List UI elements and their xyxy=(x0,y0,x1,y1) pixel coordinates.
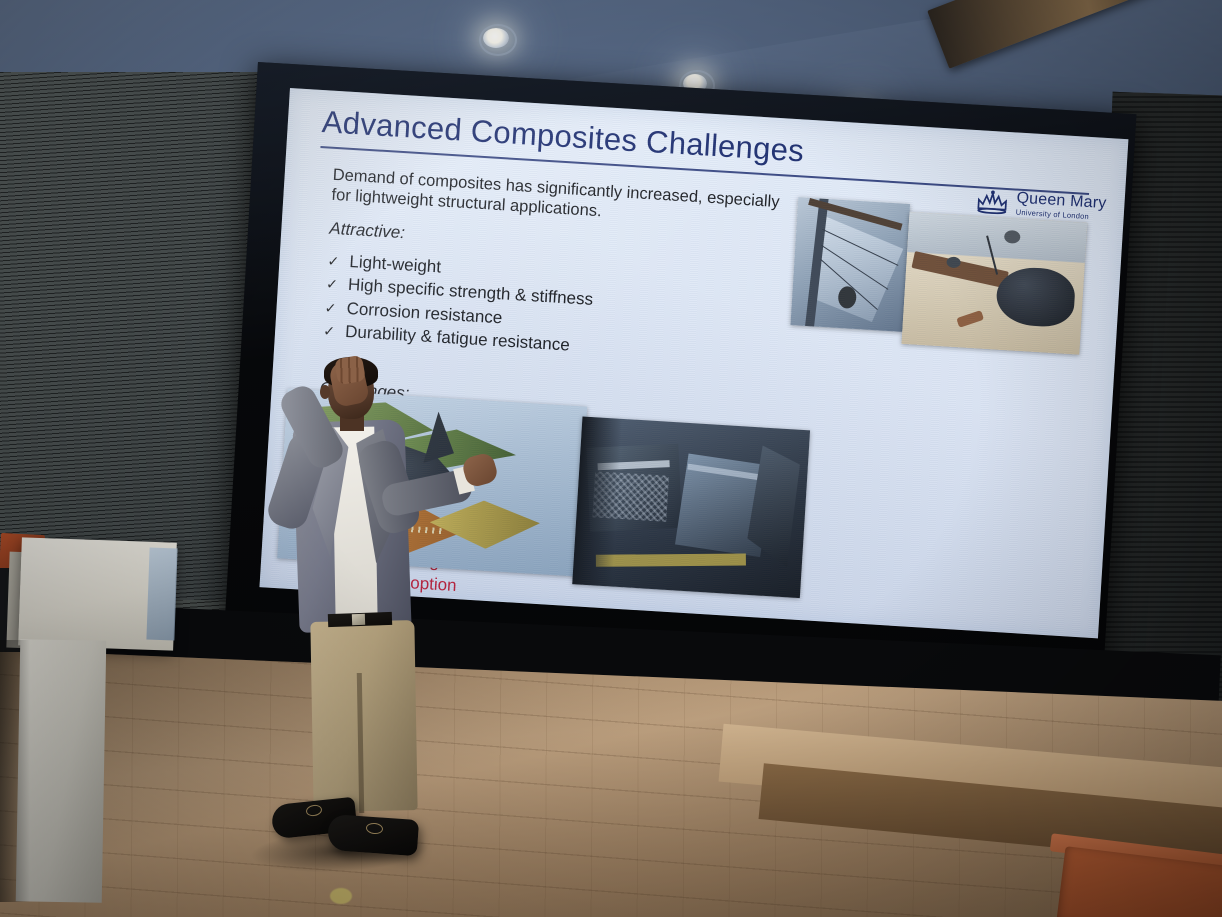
trousers xyxy=(310,620,417,812)
crushed-carbon-fibre-photo xyxy=(572,416,810,598)
crown-icon xyxy=(975,189,1010,215)
logo-text: Queen Mary University of London xyxy=(1015,191,1106,222)
yellow-tape xyxy=(596,553,746,566)
right-shoe xyxy=(327,814,419,856)
ear xyxy=(320,385,330,399)
lectern-shadow xyxy=(0,640,30,902)
sailboat-mast-photo xyxy=(790,197,910,332)
presenter xyxy=(250,355,460,875)
section-heading-attractive: Attractive: xyxy=(329,219,406,244)
check-mark-icon: ✓ xyxy=(325,275,338,295)
floor-object xyxy=(330,888,352,904)
lectern-monitor[interactable] xyxy=(146,548,177,641)
check-mark-icon: ✓ xyxy=(324,298,337,318)
check-mark-icon: ✓ xyxy=(323,322,336,342)
downlight-trim-ring xyxy=(479,24,517,56)
belt-buckle xyxy=(352,614,365,625)
damaged-composite-hull-photo xyxy=(902,212,1088,355)
attractive-bullet-list: ✓ Light-weight ✓ High specific strength … xyxy=(323,249,596,359)
lecture-hall-photo: Advanced Composites Challenges Demand of… xyxy=(0,0,1222,917)
check-mark-icon: ✓ xyxy=(327,252,340,272)
